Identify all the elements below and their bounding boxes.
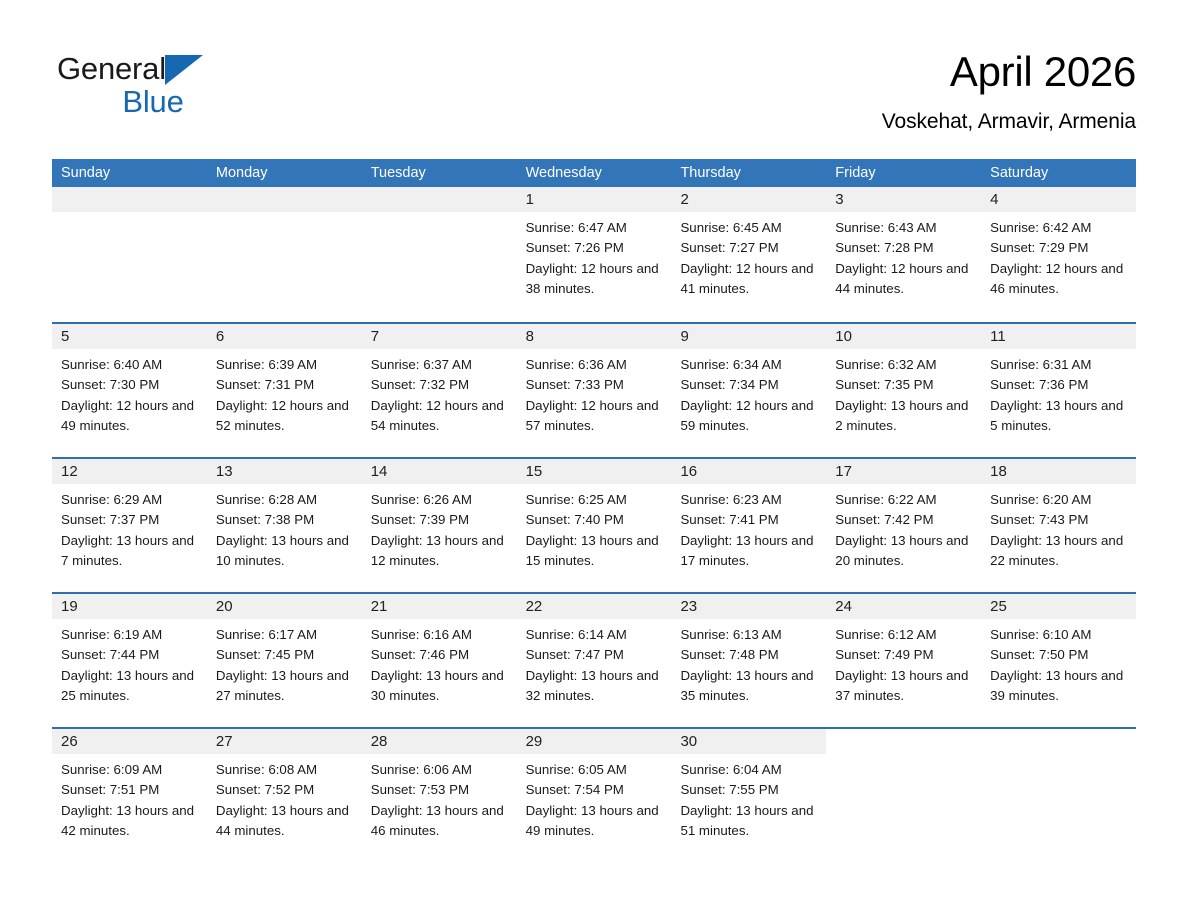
day-info: Sunrise: 6:47 AM Sunset: 7:26 PM Dayligh…: [517, 212, 672, 299]
page-subtitle-location: Voskehat, Armavir, Armenia: [882, 108, 1136, 136]
day-number: 27: [207, 729, 362, 754]
day-info: Sunrise: 6:32 AM Sunset: 7:35 PM Dayligh…: [826, 349, 981, 436]
sunset-text: Sunset: 7:47 PM: [526, 645, 664, 665]
daylight-text: Daylight: 13 hours and 17 minutes.: [680, 531, 818, 572]
day-info: Sunrise: 6:34 AM Sunset: 7:34 PM Dayligh…: [671, 349, 826, 436]
day-cell[interactable]: 22 Sunrise: 6:14 AM Sunset: 7:47 PM Dayl…: [517, 594, 672, 727]
day-number: [362, 187, 517, 212]
sunrise-text: Sunrise: 6:17 AM: [216, 625, 354, 645]
sunset-text: Sunset: 7:37 PM: [61, 510, 199, 530]
day-cell[interactable]: [52, 187, 207, 322]
sunset-text: Sunset: 7:46 PM: [371, 645, 509, 665]
day-cell[interactable]: 1 Sunrise: 6:47 AM Sunset: 7:26 PM Dayli…: [517, 187, 672, 322]
day-number: 16: [671, 459, 826, 484]
day-info: Sunrise: 6:26 AM Sunset: 7:39 PM Dayligh…: [362, 484, 517, 571]
sunset-text: Sunset: 7:36 PM: [990, 375, 1128, 395]
sunrise-text: Sunrise: 6:25 AM: [526, 490, 664, 510]
sunrise-text: Sunrise: 6:19 AM: [61, 625, 199, 645]
day-info: Sunrise: 6:43 AM Sunset: 7:28 PM Dayligh…: [826, 212, 981, 299]
day-cell[interactable]: 15 Sunrise: 6:25 AM Sunset: 7:40 PM Dayl…: [517, 459, 672, 592]
day-info: Sunrise: 6:29 AM Sunset: 7:37 PM Dayligh…: [52, 484, 207, 571]
day-cell[interactable]: 29 Sunrise: 6:05 AM Sunset: 7:54 PM Dayl…: [517, 729, 672, 862]
sunset-text: Sunset: 7:26 PM: [526, 238, 664, 258]
day-cell[interactable]: 18 Sunrise: 6:20 AM Sunset: 7:43 PM Dayl…: [981, 459, 1136, 592]
day-cell[interactable]: 13 Sunrise: 6:28 AM Sunset: 7:38 PM Dayl…: [207, 459, 362, 592]
daylight-text: Daylight: 13 hours and 10 minutes.: [216, 531, 354, 572]
sunset-text: Sunset: 7:52 PM: [216, 780, 354, 800]
weekday-header-tuesday: Tuesday: [362, 159, 517, 187]
day-number: 14: [362, 459, 517, 484]
day-number: [826, 729, 981, 754]
day-cell[interactable]: 19 Sunrise: 6:19 AM Sunset: 7:44 PM Dayl…: [52, 594, 207, 727]
day-info: Sunrise: 6:25 AM Sunset: 7:40 PM Dayligh…: [517, 484, 672, 571]
day-info: Sunrise: 6:20 AM Sunset: 7:43 PM Dayligh…: [981, 484, 1136, 571]
day-cell[interactable]: 21 Sunrise: 6:16 AM Sunset: 7:46 PM Dayl…: [362, 594, 517, 727]
day-number: 6: [207, 324, 362, 349]
sunset-text: Sunset: 7:49 PM: [835, 645, 973, 665]
day-number: 10: [826, 324, 981, 349]
day-number: 7: [362, 324, 517, 349]
sunrise-text: Sunrise: 6:20 AM: [990, 490, 1128, 510]
daylight-text: Daylight: 13 hours and 5 minutes.: [990, 396, 1128, 437]
daylight-text: Daylight: 13 hours and 46 minutes.: [371, 801, 509, 842]
weekday-header-wednesday: Wednesday: [517, 159, 672, 187]
weekday-header-row: Sunday Monday Tuesday Wednesday Thursday…: [52, 159, 1136, 187]
sunset-text: Sunset: 7:32 PM: [371, 375, 509, 395]
day-number: 23: [671, 594, 826, 619]
day-info: Sunrise: 6:42 AM Sunset: 7:29 PM Dayligh…: [981, 212, 1136, 299]
weekday-header-thursday: Thursday: [671, 159, 826, 187]
sunset-text: Sunset: 7:30 PM: [61, 375, 199, 395]
day-number: 18: [981, 459, 1136, 484]
sunrise-text: Sunrise: 6:45 AM: [680, 218, 818, 238]
daylight-text: Daylight: 12 hours and 41 minutes.: [680, 259, 818, 300]
sunset-text: Sunset: 7:35 PM: [835, 375, 973, 395]
day-number: [207, 187, 362, 212]
daylight-text: Daylight: 13 hours and 32 minutes.: [526, 666, 664, 707]
day-number: 25: [981, 594, 1136, 619]
daylight-text: Daylight: 12 hours and 52 minutes.: [216, 396, 354, 437]
day-number: 1: [517, 187, 672, 212]
sunset-text: Sunset: 7:45 PM: [216, 645, 354, 665]
day-cell[interactable]: 24 Sunrise: 6:12 AM Sunset: 7:49 PM Dayl…: [826, 594, 981, 727]
sunrise-text: Sunrise: 6:28 AM: [216, 490, 354, 510]
day-cell[interactable]: 17 Sunrise: 6:22 AM Sunset: 7:42 PM Dayl…: [826, 459, 981, 592]
daylight-text: Daylight: 13 hours and 27 minutes.: [216, 666, 354, 707]
daylight-text: Daylight: 13 hours and 7 minutes.: [61, 531, 199, 572]
day-cell[interactable]: [826, 729, 981, 862]
sunrise-text: Sunrise: 6:36 AM: [526, 355, 664, 375]
sunrise-text: Sunrise: 6:08 AM: [216, 760, 354, 780]
day-info: Sunrise: 6:06 AM Sunset: 7:53 PM Dayligh…: [362, 754, 517, 841]
day-cell[interactable]: 14 Sunrise: 6:26 AM Sunset: 7:39 PM Dayl…: [362, 459, 517, 592]
day-number: 12: [52, 459, 207, 484]
daylight-text: Daylight: 12 hours and 44 minutes.: [835, 259, 973, 300]
daylight-text: Daylight: 13 hours and 44 minutes.: [216, 801, 354, 842]
day-info: Sunrise: 6:04 AM Sunset: 7:55 PM Dayligh…: [671, 754, 826, 841]
day-info: Sunrise: 6:28 AM Sunset: 7:38 PM Dayligh…: [207, 484, 362, 571]
sunrise-text: Sunrise: 6:37 AM: [371, 355, 509, 375]
weekday-header-sunday: Sunday: [52, 159, 207, 187]
week-row: 1 Sunrise: 6:47 AM Sunset: 7:26 PM Dayli…: [52, 187, 1136, 322]
sunset-text: Sunset: 7:55 PM: [680, 780, 818, 800]
day-number: 29: [517, 729, 672, 754]
day-number: 3: [826, 187, 981, 212]
logo-top-row: General: [57, 52, 227, 86]
sunset-text: Sunset: 7:31 PM: [216, 375, 354, 395]
logo-text-general: General: [57, 51, 166, 86]
sunrise-text: Sunrise: 6:43 AM: [835, 218, 973, 238]
sunset-text: Sunset: 7:33 PM: [526, 375, 664, 395]
daylight-text: Daylight: 13 hours and 25 minutes.: [61, 666, 199, 707]
day-number: 22: [517, 594, 672, 619]
sunrise-text: Sunrise: 6:12 AM: [835, 625, 973, 645]
daylight-text: Daylight: 13 hours and 30 minutes.: [371, 666, 509, 707]
logo-text-blue: Blue: [122, 84, 183, 119]
day-cell[interactable]: 16 Sunrise: 6:23 AM Sunset: 7:41 PM Dayl…: [671, 459, 826, 592]
sunset-text: Sunset: 7:27 PM: [680, 238, 818, 258]
sunrise-text: Sunrise: 6:16 AM: [371, 625, 509, 645]
sunrise-text: Sunrise: 6:06 AM: [371, 760, 509, 780]
day-number: 24: [826, 594, 981, 619]
day-info: Sunrise: 6:05 AM Sunset: 7:54 PM Dayligh…: [517, 754, 672, 841]
day-number: 4: [981, 187, 1136, 212]
day-info: Sunrise: 6:22 AM Sunset: 7:42 PM Dayligh…: [826, 484, 981, 571]
daylight-text: Daylight: 12 hours and 54 minutes.: [371, 396, 509, 437]
daylight-text: Daylight: 12 hours and 49 minutes.: [61, 396, 199, 437]
day-cell[interactable]: 2 Sunrise: 6:45 AM Sunset: 7:27 PM Dayli…: [671, 187, 826, 322]
day-number: 17: [826, 459, 981, 484]
week-row: 5 Sunrise: 6:40 AM Sunset: 7:30 PM Dayli…: [52, 322, 1136, 457]
sunset-text: Sunset: 7:44 PM: [61, 645, 199, 665]
day-cell[interactable]: [981, 729, 1136, 862]
daylight-text: Daylight: 13 hours and 49 minutes.: [526, 801, 664, 842]
day-cell[interactable]: 26 Sunrise: 6:09 AM Sunset: 7:51 PM Dayl…: [52, 729, 207, 862]
sunset-text: Sunset: 7:42 PM: [835, 510, 973, 530]
day-info: Sunrise: 6:45 AM Sunset: 7:27 PM Dayligh…: [671, 212, 826, 299]
sunrise-text: Sunrise: 6:42 AM: [990, 218, 1128, 238]
logo-triangle-icon: [165, 55, 203, 85]
sunset-text: Sunset: 7:50 PM: [990, 645, 1128, 665]
day-info: Sunrise: 6:14 AM Sunset: 7:47 PM Dayligh…: [517, 619, 672, 706]
day-cell[interactable]: 4 Sunrise: 6:42 AM Sunset: 7:29 PM Dayli…: [981, 187, 1136, 322]
day-info: Sunrise: 6:12 AM Sunset: 7:49 PM Dayligh…: [826, 619, 981, 706]
daylight-text: Daylight: 13 hours and 39 minutes.: [990, 666, 1128, 707]
sunrise-text: Sunrise: 6:47 AM: [526, 218, 664, 238]
sunset-text: Sunset: 7:39 PM: [371, 510, 509, 530]
day-cell[interactable]: 5 Sunrise: 6:40 AM Sunset: 7:30 PM Dayli…: [52, 324, 207, 457]
day-number: 30: [671, 729, 826, 754]
day-info: Sunrise: 6:39 AM Sunset: 7:31 PM Dayligh…: [207, 349, 362, 436]
sunset-text: Sunset: 7:54 PM: [526, 780, 664, 800]
sunset-text: Sunset: 7:34 PM: [680, 375, 818, 395]
sunrise-text: Sunrise: 6:14 AM: [526, 625, 664, 645]
day-info: Sunrise: 6:19 AM Sunset: 7:44 PM Dayligh…: [52, 619, 207, 706]
sunrise-text: Sunrise: 6:10 AM: [990, 625, 1128, 645]
page-header: General Blue April 2026 Voskehat, Armavi…: [0, 0, 1188, 118]
sunset-text: Sunset: 7:29 PM: [990, 238, 1128, 258]
day-cell[interactable]: 10 Sunrise: 6:32 AM Sunset: 7:35 PM Dayl…: [826, 324, 981, 457]
daylight-text: Daylight: 13 hours and 22 minutes.: [990, 531, 1128, 572]
day-number: 15: [517, 459, 672, 484]
day-number: 26: [52, 729, 207, 754]
sunset-text: Sunset: 7:38 PM: [216, 510, 354, 530]
day-info: Sunrise: 6:13 AM Sunset: 7:48 PM Dayligh…: [671, 619, 826, 706]
sunset-text: Sunset: 7:51 PM: [61, 780, 199, 800]
calendar-grid: Sunday Monday Tuesday Wednesday Thursday…: [52, 159, 1136, 862]
daylight-text: Daylight: 13 hours and 20 minutes.: [835, 531, 973, 572]
logo-bottom-row: Blue: [57, 84, 227, 120]
day-cell[interactable]: 7 Sunrise: 6:37 AM Sunset: 7:32 PM Dayli…: [362, 324, 517, 457]
week-row: 19 Sunrise: 6:19 AM Sunset: 7:44 PM Dayl…: [52, 592, 1136, 727]
day-cell[interactable]: [362, 187, 517, 322]
day-info: Sunrise: 6:37 AM Sunset: 7:32 PM Dayligh…: [362, 349, 517, 436]
day-number: [981, 729, 1136, 754]
daylight-text: Daylight: 12 hours and 59 minutes.: [680, 396, 818, 437]
day-number: [52, 187, 207, 212]
general-blue-logo: General Blue: [57, 52, 227, 118]
day-number: 21: [362, 594, 517, 619]
day-cell[interactable]: 27 Sunrise: 6:08 AM Sunset: 7:52 PM Dayl…: [207, 729, 362, 862]
week-row: 26 Sunrise: 6:09 AM Sunset: 7:51 PM Dayl…: [52, 727, 1136, 862]
day-number: 9: [671, 324, 826, 349]
day-info: Sunrise: 6:31 AM Sunset: 7:36 PM Dayligh…: [981, 349, 1136, 436]
sunset-text: Sunset: 7:40 PM: [526, 510, 664, 530]
day-cell[interactable]: [207, 187, 362, 322]
day-number: 13: [207, 459, 362, 484]
day-info: Sunrise: 6:16 AM Sunset: 7:46 PM Dayligh…: [362, 619, 517, 706]
sunrise-text: Sunrise: 6:31 AM: [990, 355, 1128, 375]
day-cell[interactable]: 11 Sunrise: 6:31 AM Sunset: 7:36 PM Dayl…: [981, 324, 1136, 457]
sunrise-text: Sunrise: 6:22 AM: [835, 490, 973, 510]
sunrise-text: Sunrise: 6:29 AM: [61, 490, 199, 510]
weekday-header-monday: Monday: [207, 159, 362, 187]
daylight-text: Daylight: 12 hours and 46 minutes.: [990, 259, 1128, 300]
day-number: 2: [671, 187, 826, 212]
day-number: 20: [207, 594, 362, 619]
sunrise-text: Sunrise: 6:23 AM: [680, 490, 818, 510]
sunrise-text: Sunrise: 6:39 AM: [216, 355, 354, 375]
day-cell[interactable]: 12 Sunrise: 6:29 AM Sunset: 7:37 PM Dayl…: [52, 459, 207, 592]
daylight-text: Daylight: 13 hours and 15 minutes.: [526, 531, 664, 572]
day-info: Sunrise: 6:10 AM Sunset: 7:50 PM Dayligh…: [981, 619, 1136, 706]
day-number: 28: [362, 729, 517, 754]
sunrise-text: Sunrise: 6:05 AM: [526, 760, 664, 780]
weekday-header-saturday: Saturday: [981, 159, 1136, 187]
daylight-text: Daylight: 13 hours and 35 minutes.: [680, 666, 818, 707]
day-info: Sunrise: 6:40 AM Sunset: 7:30 PM Dayligh…: [52, 349, 207, 436]
day-info: Sunrise: 6:36 AM Sunset: 7:33 PM Dayligh…: [517, 349, 672, 436]
page-title: April 2026: [882, 46, 1136, 98]
day-info: Sunrise: 6:23 AM Sunset: 7:41 PM Dayligh…: [671, 484, 826, 571]
day-number: 8: [517, 324, 672, 349]
sunrise-text: Sunrise: 6:04 AM: [680, 760, 818, 780]
sunset-text: Sunset: 7:53 PM: [371, 780, 509, 800]
day-cell[interactable]: 3 Sunrise: 6:43 AM Sunset: 7:28 PM Dayli…: [826, 187, 981, 322]
sunset-text: Sunset: 7:48 PM: [680, 645, 818, 665]
day-cell[interactable]: 28 Sunrise: 6:06 AM Sunset: 7:53 PM Dayl…: [362, 729, 517, 862]
day-info: Sunrise: 6:17 AM Sunset: 7:45 PM Dayligh…: [207, 619, 362, 706]
sunrise-text: Sunrise: 6:40 AM: [61, 355, 199, 375]
day-info: Sunrise: 6:08 AM Sunset: 7:52 PM Dayligh…: [207, 754, 362, 841]
sunset-text: Sunset: 7:28 PM: [835, 238, 973, 258]
sunrise-text: Sunrise: 6:32 AM: [835, 355, 973, 375]
day-cell[interactable]: 20 Sunrise: 6:17 AM Sunset: 7:45 PM Dayl…: [207, 594, 362, 727]
day-cell[interactable]: 8 Sunrise: 6:36 AM Sunset: 7:33 PM Dayli…: [517, 324, 672, 457]
daylight-text: Daylight: 13 hours and 37 minutes.: [835, 666, 973, 707]
day-cell[interactable]: 9 Sunrise: 6:34 AM Sunset: 7:34 PM Dayli…: [671, 324, 826, 457]
day-number: 5: [52, 324, 207, 349]
daylight-text: Daylight: 13 hours and 2 minutes.: [835, 396, 973, 437]
week-row: 12 Sunrise: 6:29 AM Sunset: 7:37 PM Dayl…: [52, 457, 1136, 592]
sunset-text: Sunset: 7:41 PM: [680, 510, 818, 530]
sunset-text: Sunset: 7:43 PM: [990, 510, 1128, 530]
sunrise-text: Sunrise: 6:34 AM: [680, 355, 818, 375]
day-info: Sunrise: 6:09 AM Sunset: 7:51 PM Dayligh…: [52, 754, 207, 841]
day-cell[interactable]: 23 Sunrise: 6:13 AM Sunset: 7:48 PM Dayl…: [671, 594, 826, 727]
sunrise-text: Sunrise: 6:26 AM: [371, 490, 509, 510]
daylight-text: Daylight: 13 hours and 12 minutes.: [371, 531, 509, 572]
daylight-text: Daylight: 13 hours and 42 minutes.: [61, 801, 199, 842]
daylight-text: Daylight: 13 hours and 51 minutes.: [680, 801, 818, 842]
sunrise-text: Sunrise: 6:09 AM: [61, 760, 199, 780]
daylight-text: Daylight: 12 hours and 57 minutes.: [526, 396, 664, 437]
day-number: 19: [52, 594, 207, 619]
weekday-header-friday: Friday: [826, 159, 981, 187]
day-cell[interactable]: 6 Sunrise: 6:39 AM Sunset: 7:31 PM Dayli…: [207, 324, 362, 457]
day-cell[interactable]: 30 Sunrise: 6:04 AM Sunset: 7:55 PM Dayl…: [671, 729, 826, 862]
daylight-text: Daylight: 12 hours and 38 minutes.: [526, 259, 664, 300]
sunrise-text: Sunrise: 6:13 AM: [680, 625, 818, 645]
day-cell[interactable]: 25 Sunrise: 6:10 AM Sunset: 7:50 PM Dayl…: [981, 594, 1136, 727]
title-block: April 2026 Voskehat, Armavir, Armenia: [882, 46, 1136, 136]
day-number: 11: [981, 324, 1136, 349]
